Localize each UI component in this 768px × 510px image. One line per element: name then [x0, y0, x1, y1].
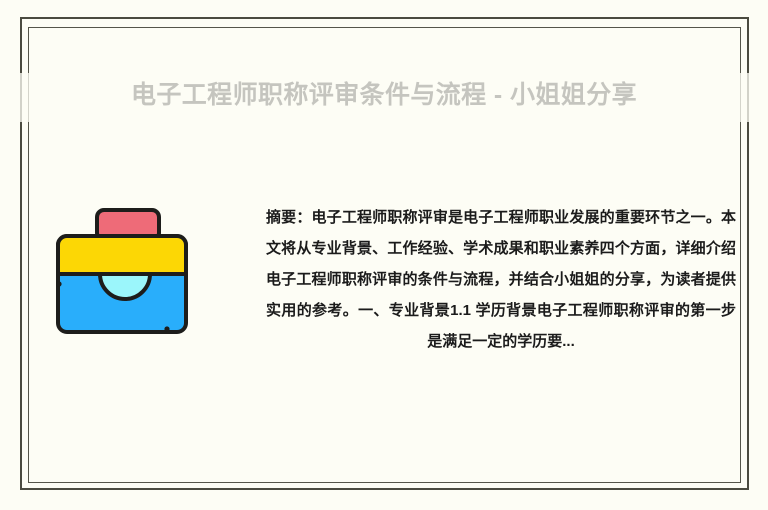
page-title: 电子工程师职称评审条件与流程 - 小姐姐分享: [0, 80, 768, 110]
toolbox-rivet-left: [56, 281, 61, 286]
article-summary: 摘要：电子工程师职称评审是电子工程师职业发展的重要环节之一。本文将从专业背景、工…: [266, 202, 736, 357]
toolbox-rivet-bottom: [164, 326, 169, 331]
toolbox-icon: [45, 198, 205, 343]
article-content-row: 摘要：电子工程师职称评审是电子工程师职业发展的重要环节之一。本文将从专业背景、工…: [0, 190, 768, 390]
toolbox-lid: [58, 236, 186, 274]
article-card-page: 电子工程师职称评审条件与流程 - 小姐姐分享 摘要：电子工程师职称评审是电子工程…: [0, 0, 768, 510]
